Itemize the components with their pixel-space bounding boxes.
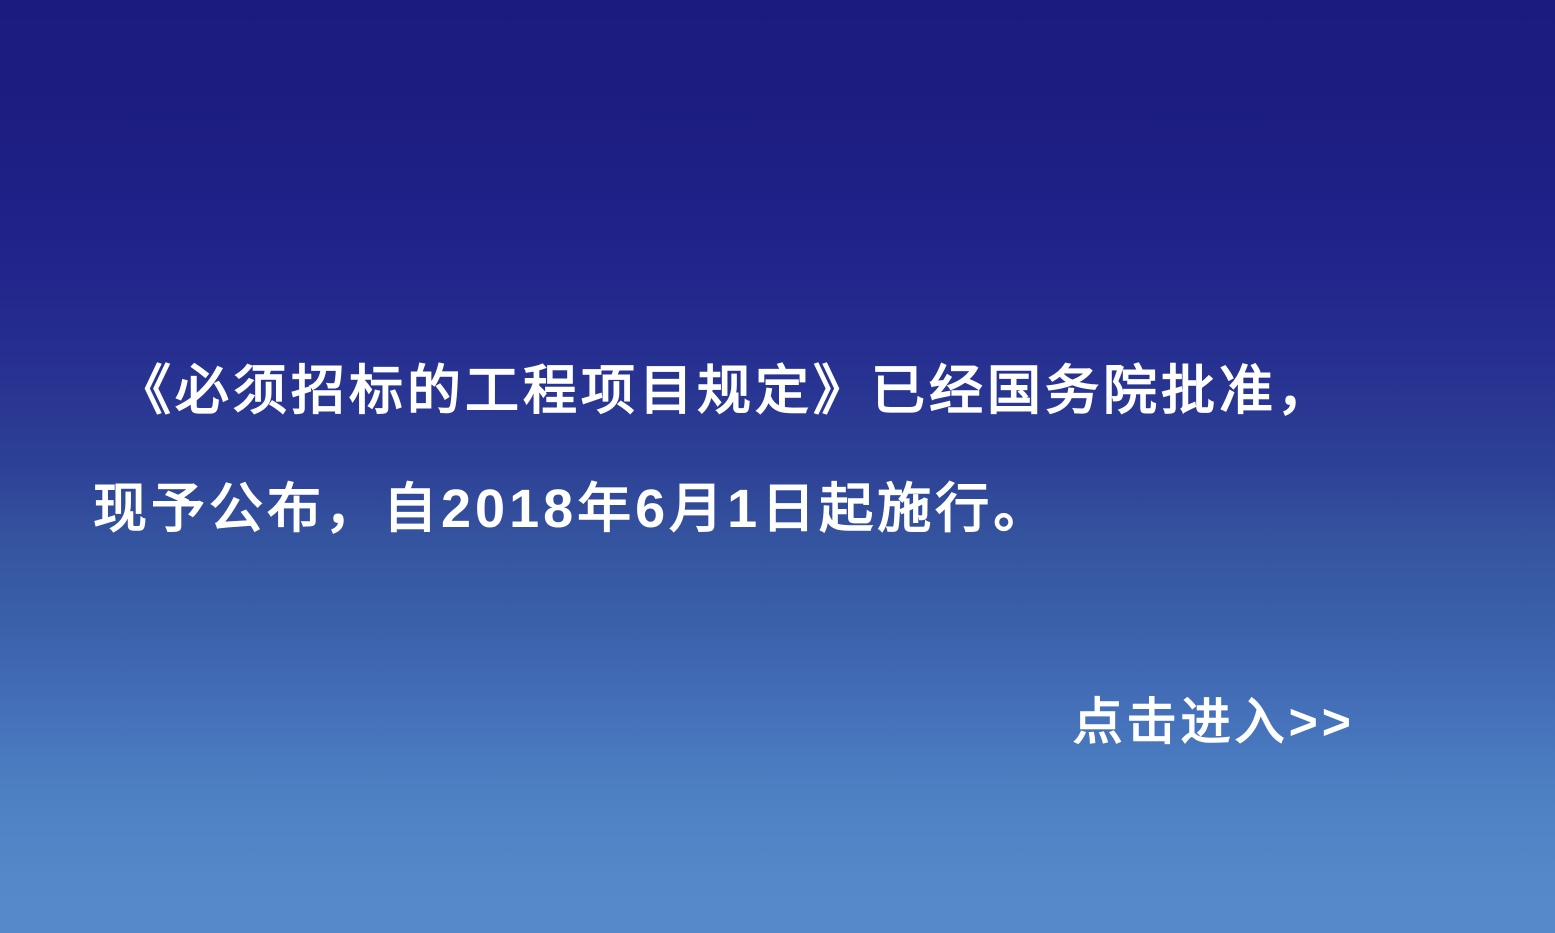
announcement-text: 《必须招标的工程项目规定》已经国务院批准， 现予公布，自2018年6月1日起施行… — [93, 332, 1473, 568]
banner-body: 《必须招标的工程项目规定》已经国务院批准， 现予公布，自2018年6月1日起施行… — [0, 0, 1555, 933]
announcement-line-2: 现予公布，自2018年6月1日起施行。 — [93, 450, 1473, 568]
cta-row: 点击进入>> — [0, 688, 1355, 756]
announcement-line-1: 《必须招标的工程项目规定》已经国务院批准， — [93, 332, 1473, 450]
enter-link[interactable]: 点击进入>> — [1073, 688, 1355, 756]
promo-banner: 《必须招标的工程项目规定》已经国务院批准， 现予公布，自2018年6月1日起施行… — [0, 0, 1555, 933]
